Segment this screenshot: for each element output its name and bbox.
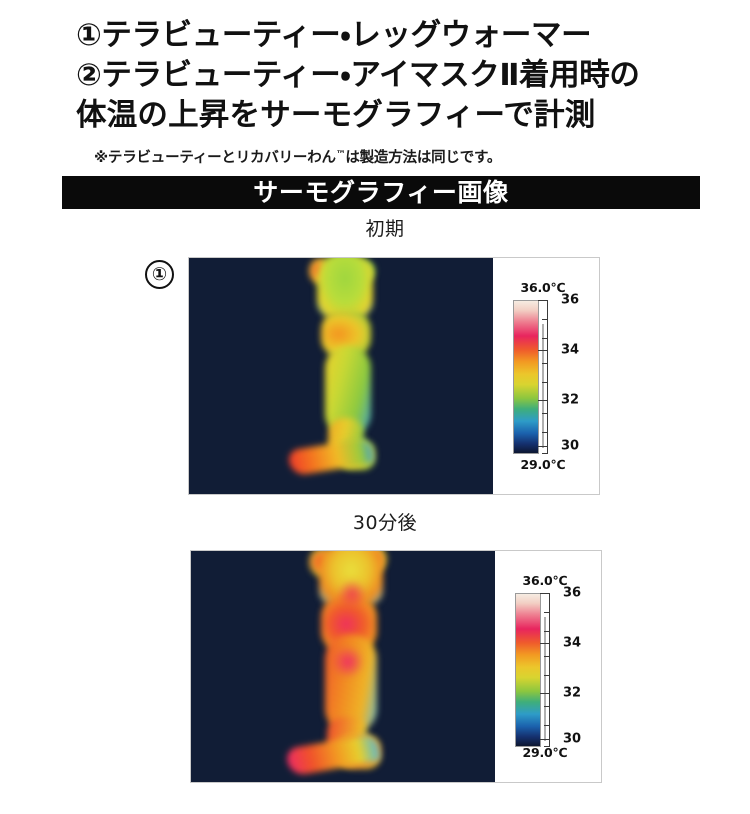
disclaimer-note: ※テラビューティーとリカバリーわん™は製造方法は同じです。 [94, 146, 501, 167]
headline-line-3: 体温の上昇をサーモグラフィーで計測 [76, 96, 704, 136]
section-banner-title: サーモグラフィー画像 [62, 178, 700, 208]
colorbar-tick-major [540, 593, 549, 594]
colorbar-tick-label-36: 36 [561, 293, 579, 308]
colorbar-marker-line-after30 [544, 617, 546, 741]
leg-thigh [317, 258, 373, 318]
colorbar-tick-minor [544, 725, 549, 726]
colorbar-tick-minor [542, 413, 547, 414]
colorbar-tick-minor [542, 363, 547, 364]
colorbar-tick-major [538, 446, 547, 447]
thermography-figure-initial: 36.0℃ 36 34 32 30 29.0℃ [188, 257, 600, 495]
colorbar-tick-label-34: 34 [563, 636, 581, 651]
colorbar-tick-major [540, 693, 549, 694]
colorbar-tick-minor [542, 453, 547, 454]
colorbar-tick-major [540, 739, 549, 740]
leg-foot [285, 733, 380, 777]
leg-thermal-render-after30 [191, 551, 495, 782]
temperature-colorbar-initial: 36.0℃ 36 34 32 30 29.0℃ [493, 258, 599, 494]
colorbar-tick-major [538, 350, 547, 351]
colorbar-tick-major [538, 400, 547, 401]
leg-foot [287, 438, 374, 477]
thermal-image-initial [189, 258, 493, 494]
colorbar-axis-initial: 36 34 32 30 [547, 300, 548, 454]
colorbar-tick-major [538, 300, 547, 301]
headline-line-1: ①テラビューティー・レッグウォーマー [76, 16, 704, 56]
colorbar-tick-minor [544, 656, 549, 657]
colorbar-tick-label-30: 30 [561, 439, 579, 454]
colorbar-axis-after30: 36 34 32 30 [549, 593, 550, 747]
thermography-figure-after30: 36.0℃ 36 34 32 30 29.0℃ [190, 550, 602, 783]
colorbar-tick-major [540, 643, 549, 644]
section-banner: サーモグラフィー画像 [62, 176, 700, 209]
colorbar-tick-label-32: 32 [563, 686, 581, 701]
colorbar-tick-minor [542, 382, 547, 383]
colorbar-tick-minor [544, 631, 549, 632]
colorbar-gradient-after30 [515, 593, 541, 747]
colorbar-tick-label-32: 32 [561, 393, 579, 408]
thermal-image-after30 [191, 551, 495, 782]
colorbar-tick-minor [544, 706, 549, 707]
colorbar-tick-minor [544, 675, 549, 676]
temperature-colorbar-after30: 36.0℃ 36 34 32 30 29.0℃ [495, 551, 601, 782]
note-prefix: ※テラビューティーとリカバリーわん [94, 150, 336, 166]
colorbar-marker-line-initial [542, 324, 544, 448]
leg-hotspot-knee [337, 581, 367, 607]
colorbar-tick-minor [542, 338, 547, 339]
colorbar-tick-minor [544, 612, 549, 613]
colorbar-tick-label-34: 34 [561, 343, 579, 358]
note-suffix: は製造方法は同じです。 [345, 150, 501, 166]
page-title: ①テラビューティー・レッグウォーマー ②テラビューティー・アイマスクⅡ着用時の … [76, 16, 704, 136]
leg-thermal-render-initial [189, 258, 493, 494]
leg-hotspot-calf [331, 647, 365, 677]
colorbar-tick-minor [542, 432, 547, 433]
figure-caption-after30: 30分後 [185, 508, 585, 535]
colorbar-tick-minor [542, 319, 547, 320]
headline-line-2: ②テラビューティー・アイマスクⅡ着用時の [76, 56, 704, 96]
colorbar-min-label-initial: 29.0℃ [493, 457, 593, 472]
colorbar-min-label-after30: 29.0℃ [495, 745, 595, 760]
figure-caption-initial: 初期 [185, 214, 585, 241]
colorbar-gradient-initial [513, 300, 539, 454]
trademark-symbol: ™ [336, 150, 346, 161]
figure-marker-initial: ① [145, 260, 174, 289]
colorbar-tick-label-36: 36 [563, 586, 581, 601]
